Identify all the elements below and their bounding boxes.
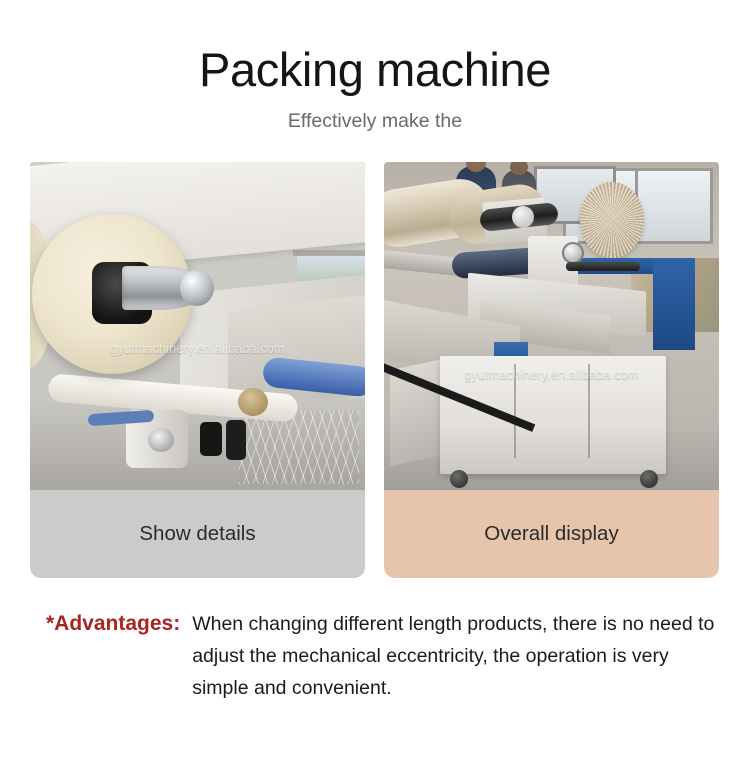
page-title: Packing machine (0, 44, 750, 96)
page-subtitle: Effectively make the (0, 110, 750, 133)
card-show-details[interactable]: gyutmachinery.en.alibaba.com Show detail… (30, 162, 365, 578)
lower-drum-hub-shape (148, 428, 174, 452)
machine-cabinet-shape (440, 356, 666, 474)
adjust-knob-shape (512, 206, 534, 228)
black-roller-two-shape (226, 420, 246, 460)
woven-tray-shape (580, 182, 644, 258)
product-promo-page: Packing machine Effectively make the (0, 0, 750, 759)
blue-column-shape (653, 258, 695, 350)
card-overall-display[interactable]: gyutmachinery.en.alibaba.com Overall dis… (384, 162, 719, 578)
caption-overall-display: Overall display (384, 490, 719, 578)
advantages-text: When changing different length products,… (192, 608, 716, 704)
mesh-conveyor-shape (239, 410, 359, 484)
cone-tip-shape (180, 270, 214, 306)
machine-arm-shape (566, 262, 640, 271)
caption-show-details: Show details (30, 490, 365, 578)
window-frame-shape (293, 250, 365, 256)
caster-wheel-shape (450, 470, 468, 488)
photo-show-details: gyutmachinery.en.alibaba.com (30, 162, 365, 490)
header: Packing machine Effectively make the (0, 0, 750, 133)
cabinet-seam-shape (514, 364, 516, 458)
cabinet-seam-shape (588, 364, 590, 458)
black-roller-one-shape (200, 422, 222, 456)
dial-shape (562, 242, 584, 264)
caster-wheel-shape (640, 470, 658, 488)
image-cards-row: gyutmachinery.en.alibaba.com Show detail… (30, 162, 720, 578)
photo-overall-display: gyutmachinery.en.alibaba.com (384, 162, 719, 490)
advantages-block: *Advantages: When changing different len… (46, 608, 716, 704)
advantages-label: *Advantages: (46, 608, 192, 640)
